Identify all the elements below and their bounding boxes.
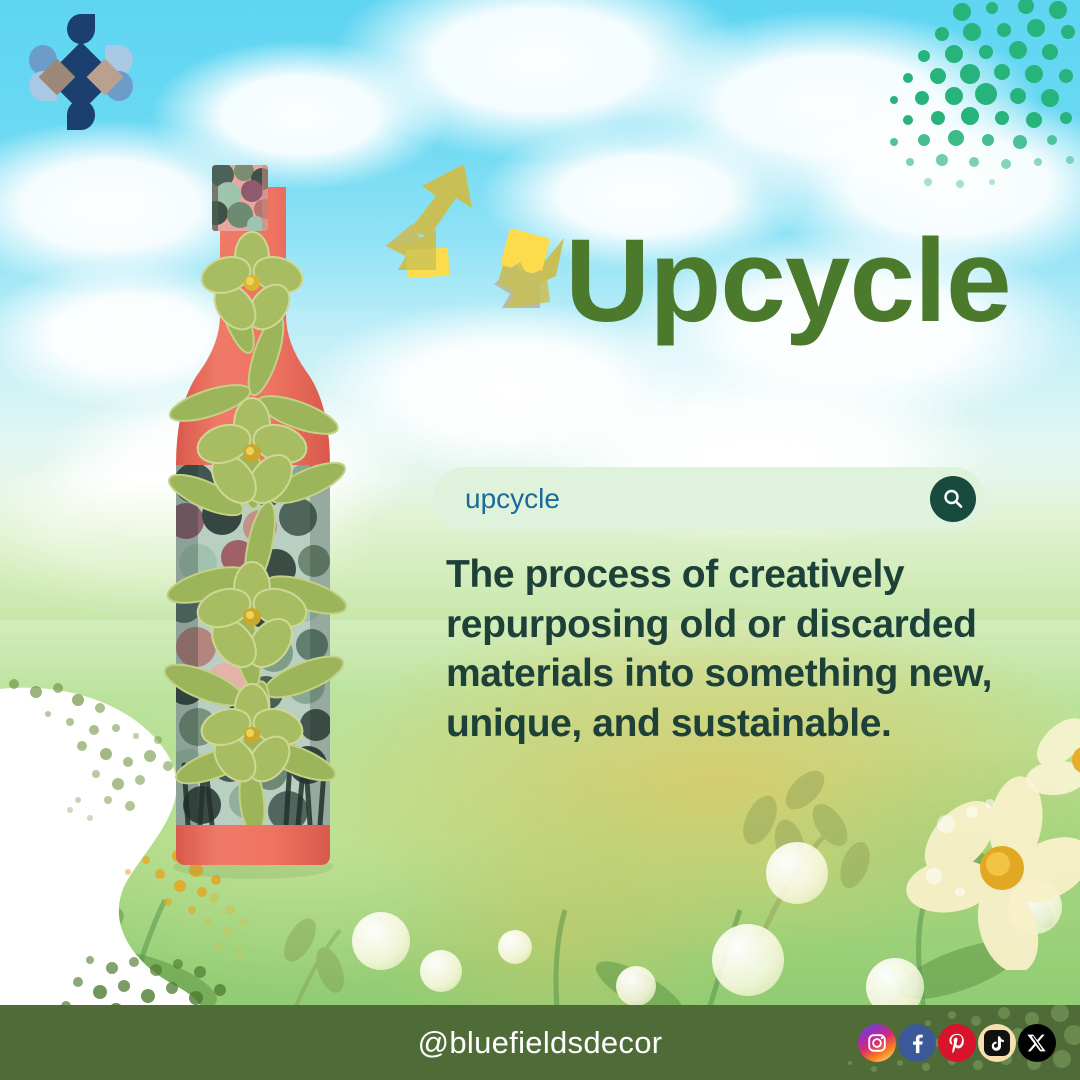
tiktok-icon[interactable] [978,1024,1016,1062]
page-title: Upcycle [565,222,1011,340]
definition-text: The process of creatively repurposing ol… [446,550,1006,748]
facebook-icon[interactable] [898,1024,936,1062]
upcycled-bottle-product [148,165,358,905]
search-icon [941,487,965,511]
x-icon[interactable] [1018,1024,1056,1062]
instagram-icon[interactable] [858,1024,896,1062]
social-handle: @bluefieldsdecor [418,1025,663,1061]
search-button[interactable] [930,476,976,522]
social-links [858,1024,1056,1062]
pinterest-icon[interactable] [938,1024,976,1062]
brand-logo[interactable] [26,14,136,130]
search-input[interactable] [465,483,885,515]
bottle-neck-pattern [204,165,274,234]
logo-drop-top [67,14,95,44]
footer-bar: @bluefieldsdecor [0,1005,1080,1080]
social-post-canvas: Upcycle The process of creatively repurp… [0,0,1080,1080]
bottle-base-band [176,825,330,865]
search-bar[interactable] [433,467,985,530]
recycle-arrows-icon [378,142,578,342]
